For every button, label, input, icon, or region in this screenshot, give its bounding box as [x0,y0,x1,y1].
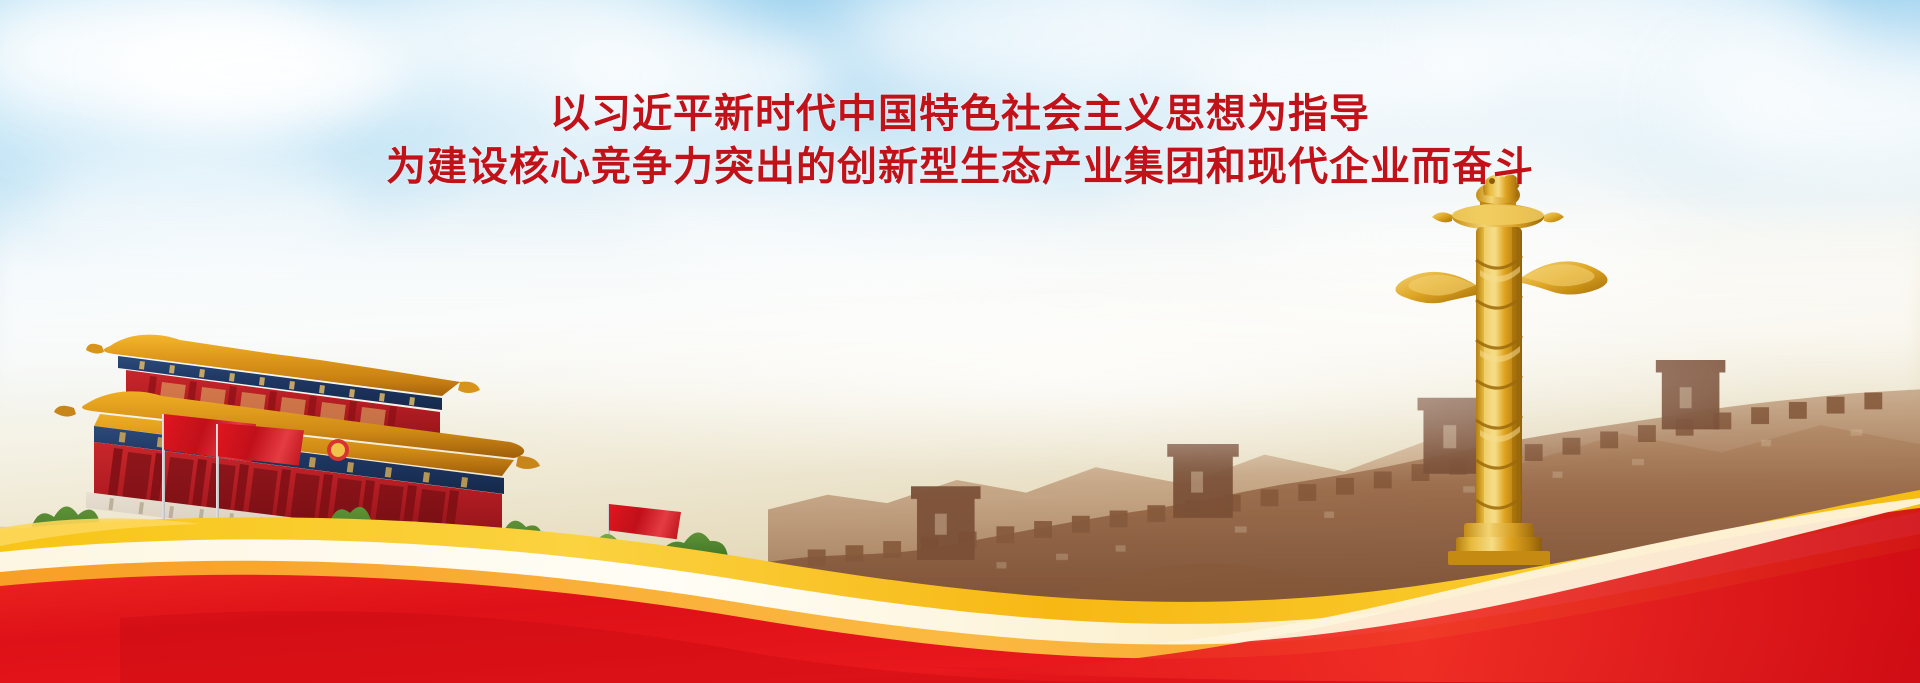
stone-lion-shape [1476,174,1520,209]
banner-root: 中华人民共和国万岁 世界人民大团结万岁 [0,0,1920,683]
cloud-icon [560,20,840,130]
roof-medallion-icon [327,439,349,461]
cloud-plate-shape [1432,204,1564,230]
ribbon-waves [0,468,1920,683]
